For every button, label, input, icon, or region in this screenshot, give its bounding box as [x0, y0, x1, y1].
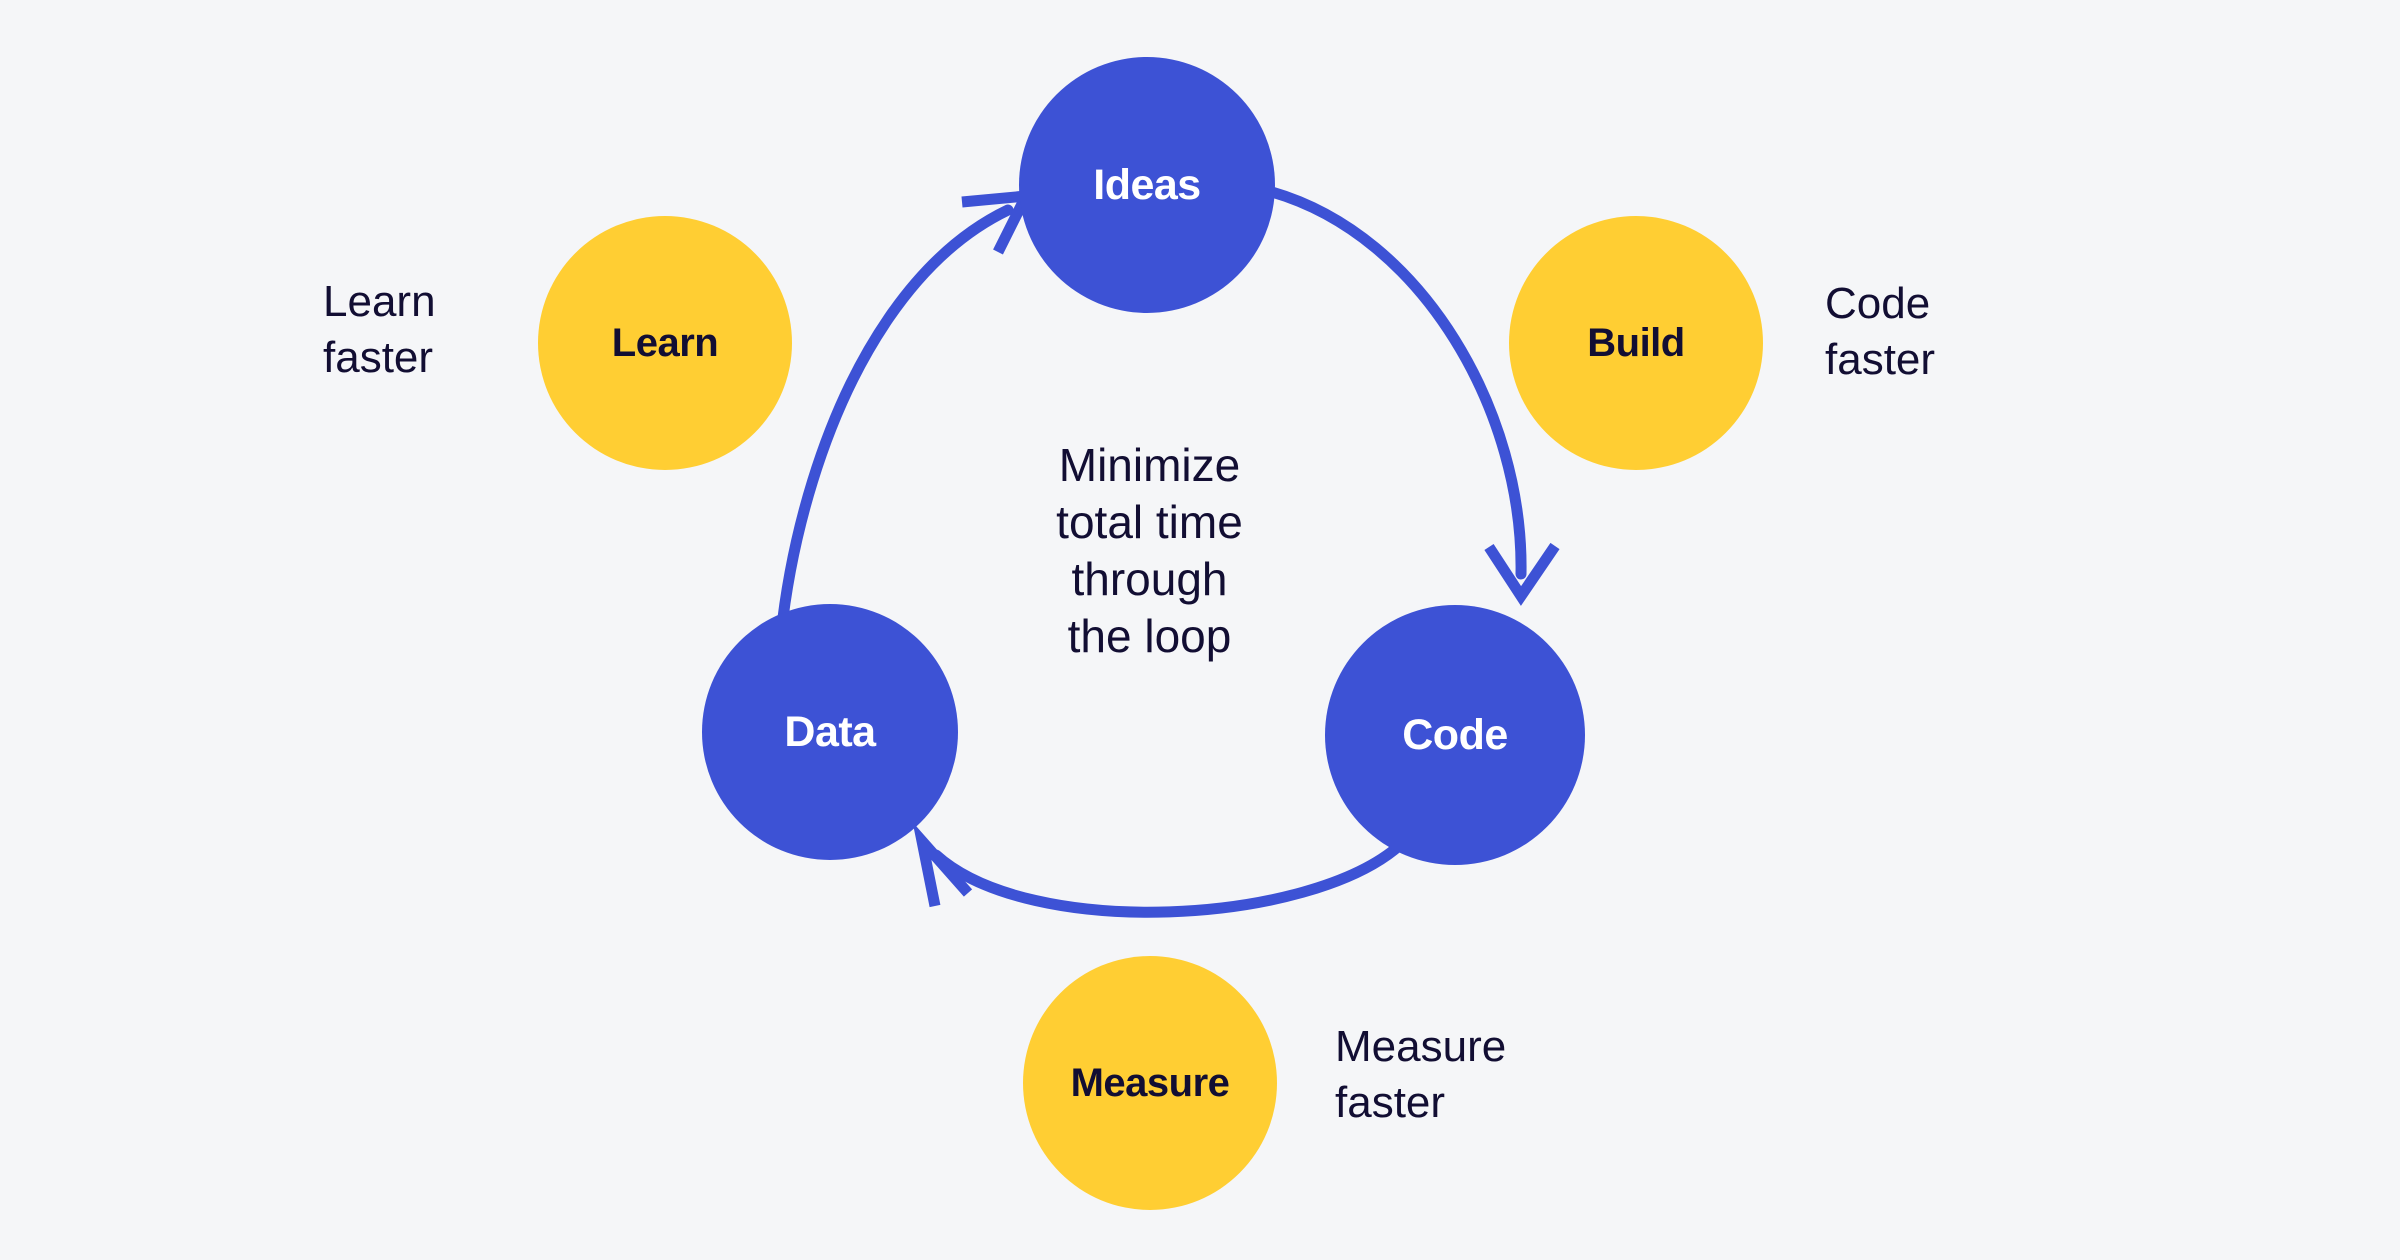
node-code[interactable]: Code	[1325, 605, 1585, 865]
center-note: Minimize total time through the loop	[962, 437, 1337, 665]
node-build[interactable]: Build	[1509, 216, 1763, 470]
node-ideas-label: Ideas	[1093, 164, 1200, 207]
node-build-label: Build	[1587, 323, 1684, 363]
node-measure[interactable]: Measure	[1023, 956, 1277, 1210]
node-learn[interactable]: Learn	[538, 216, 792, 470]
caption-learn-faster: Learn faster	[323, 274, 436, 387]
node-learn-label: Learn	[612, 323, 718, 363]
node-ideas[interactable]: Ideas	[1019, 57, 1275, 313]
node-data-label: Data	[784, 711, 875, 754]
arrow-code-to-data	[922, 841, 1400, 912]
node-measure-label: Measure	[1071, 1063, 1230, 1103]
diagram-canvas: Ideas Code Data Learn Build Measure Lear…	[0, 0, 2400, 1260]
node-data[interactable]: Data	[702, 604, 958, 860]
node-code-label: Code	[1402, 714, 1508, 757]
caption-measure-faster: Measure faster	[1335, 1019, 1506, 1132]
caption-code-faster: Code faster	[1825, 276, 1935, 389]
